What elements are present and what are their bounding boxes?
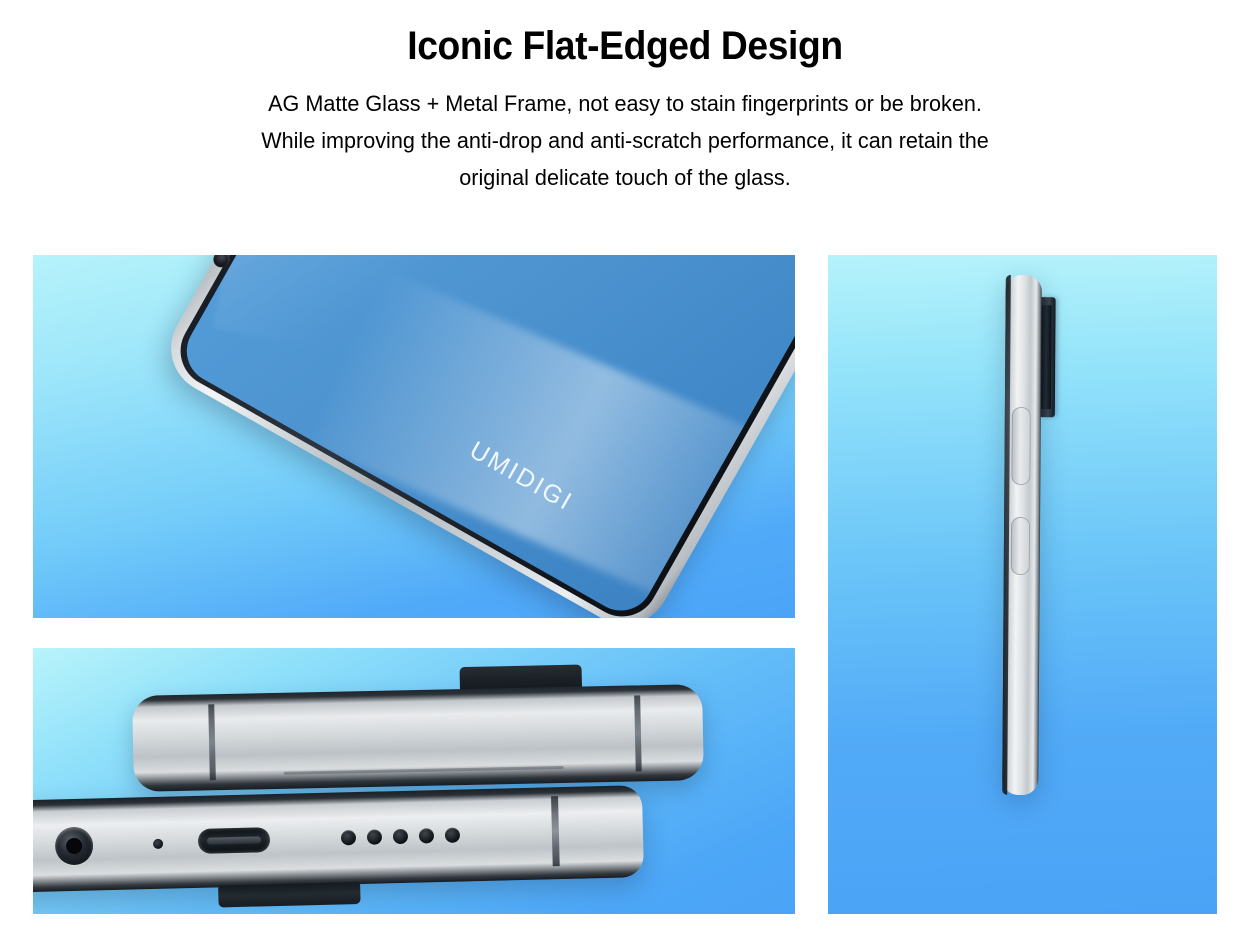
usb-c-port-icon — [198, 827, 271, 854]
phone-bottom-edge-metal-frame — [33, 785, 644, 893]
header-text-block: Iconic Flat-Edged Design AG Matte Glass … — [0, 0, 1250, 196]
speaker-hole-icon — [367, 829, 382, 844]
speaker-grille — [341, 828, 460, 846]
phone-top-edge-metal-frame — [132, 684, 704, 792]
camera-module-inner — [1041, 305, 1052, 409]
phone-top-edge-render — [132, 684, 704, 792]
product-image-phone-bottom-corner: BEYOND UMIDIGI — [33, 255, 795, 618]
speaker-hole-icon — [445, 828, 460, 843]
antenna-line-left — [208, 704, 216, 780]
phone-side-metal-frame — [1002, 275, 1042, 795]
power-button[interactable] — [1011, 407, 1031, 485]
phone-screen: BEYOND UMIDIGI — [175, 255, 795, 618]
page-title: Iconic Flat-Edged Design — [44, 0, 1207, 69]
volume-rocker-button[interactable] — [1011, 517, 1030, 575]
frame-seam-line — [284, 766, 564, 775]
antenna-line-right — [634, 695, 642, 771]
microphone-hole-icon — [153, 839, 163, 849]
speaker-hole-icon — [419, 828, 434, 843]
subtitle-block: AG Matte Glass + Metal Frame, not easy t… — [145, 69, 1105, 196]
product-image-phone-side-profile — [828, 255, 1217, 914]
headphone-jack-icon — [55, 827, 94, 866]
subtitle-line-1: AG Matte Glass + Metal Frame, not easy t… — [164, 85, 1086, 122]
camera-bump-icon — [218, 882, 360, 907]
product-image-phone-edges — [33, 648, 795, 914]
subtitle-line-2: While improving the anti-drop and anti-s… — [164, 122, 1086, 159]
subtitle-line-3: original delicate touch of the glass. — [164, 159, 1086, 196]
speaker-hole-icon — [341, 830, 356, 845]
phone-bottom-edge-render — [33, 785, 644, 893]
antenna-line-right — [551, 796, 560, 866]
phone-side-profile-render — [1002, 275, 1042, 795]
speaker-hole-icon — [393, 829, 408, 844]
